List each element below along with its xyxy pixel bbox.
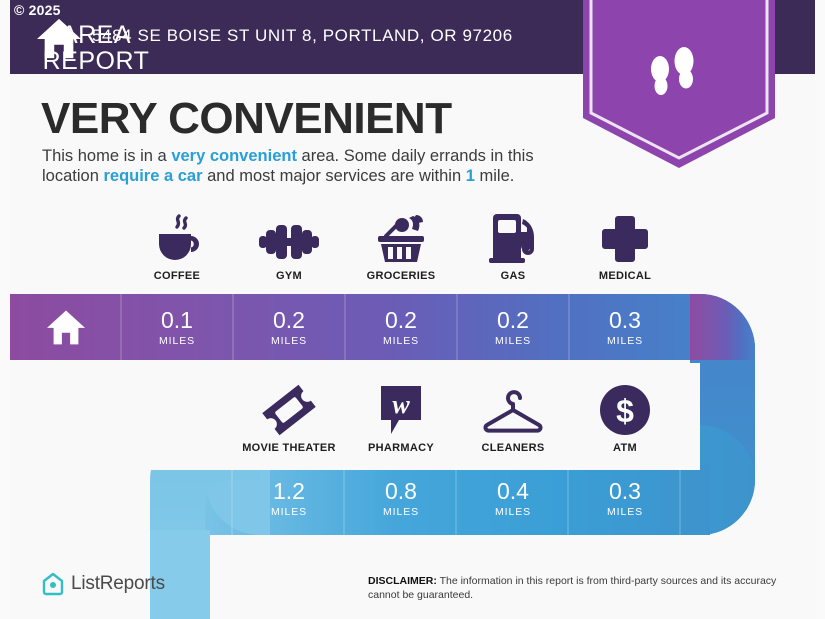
amenity-groceries: GROCERIES — [345, 212, 457, 282]
listreports-name: ListReports — [71, 573, 165, 595]
distance-value: 0.3 — [569, 309, 681, 332]
listreports-house-icon — [42, 572, 64, 596]
amenity-movie-theater: MOVIE THEATER — [233, 384, 345, 454]
amenity-label: CLEANERS — [457, 442, 569, 454]
amenity-row-2: MOVIE THEATER w PHARMACY CLEANERS — [0, 384, 825, 464]
distance-movie-theater: 1.2 MILES — [233, 480, 345, 518]
distance-unit: MILES — [233, 506, 345, 518]
distance-medical: 0.3 MILES — [569, 309, 681, 347]
amenity-medical: MEDICAL — [569, 212, 681, 282]
home-marker-icon — [46, 308, 86, 346]
distance-value: 0.8 — [345, 480, 457, 503]
page-title: VERY CONVENIENT — [41, 94, 452, 144]
listreports-logo: ListReports — [42, 572, 165, 596]
amenity-row-1: COFFEE GYM — [0, 212, 825, 292]
amenity-label: GYM — [233, 270, 345, 282]
amenity-cleaners: CLEANERS — [457, 384, 569, 454]
distance-unit: MILES — [457, 335, 569, 347]
distance-unit: MILES — [569, 335, 681, 347]
amenity-label: GAS — [457, 270, 569, 282]
area-report-page: © 2025 5484 SE BOISE ST UNIT 8, PORTLAND… — [0, 0, 825, 619]
movie-ticket-icon — [233, 384, 345, 436]
medical-cross-icon — [569, 212, 681, 264]
svg-text:w: w — [392, 390, 410, 419]
amenity-label: GROCERIES — [345, 270, 457, 282]
distance-coffee: 0.1 MILES — [121, 309, 233, 347]
subtitle-part-3: and most major services are within — [203, 167, 466, 185]
distance-pharmacy: 0.8 MILES — [345, 480, 457, 518]
page-subtitle: This home is in a very convenient area. … — [42, 146, 587, 187]
dumbbell-icon — [233, 212, 345, 264]
amenity-pharmacy: w PHARMACY — [345, 384, 457, 454]
distance-unit: MILES — [121, 335, 233, 347]
svg-text:$: $ — [616, 393, 634, 429]
area-report-badge — [583, 0, 775, 168]
distance-gas: 0.2 MILES — [457, 309, 569, 347]
distance-unit: MILES — [345, 335, 457, 347]
distance-cleaners: 0.4 MILES — [457, 480, 569, 518]
disclaimer-label: DISCLAIMER: — [368, 575, 437, 587]
amenity-label: PHARMACY — [345, 442, 457, 454]
distance-atm: 0.3 MILES — [569, 480, 681, 518]
amenity-label: COFFEE — [121, 270, 233, 282]
distance-unit: MILES — [457, 506, 569, 518]
amenity-label: MOVIE THEATER — [233, 442, 345, 454]
distance-unit: MILES — [345, 506, 457, 518]
dollar-circle-icon: $ — [569, 384, 681, 436]
clothes-hanger-icon — [457, 384, 569, 436]
distance-value: 0.3 — [569, 480, 681, 503]
amenity-atm: $ ATM — [569, 384, 681, 454]
gas-pump-icon — [457, 212, 569, 264]
amenity-label: ATM — [569, 442, 681, 454]
amenity-gym: GYM — [233, 212, 345, 282]
subtitle-highlight-1: very convenient — [171, 147, 297, 165]
subtitle-part-1: This home is in a — [42, 147, 171, 165]
distance-value: 0.2 — [345, 309, 457, 332]
copyright-label: © 2025 — [14, 2, 61, 18]
subtitle-highlight-3: 1 — [466, 167, 475, 185]
grocery-basket-icon — [345, 212, 457, 264]
subtitle-highlight-2: require a car — [103, 167, 202, 185]
distance-groceries: 0.2 MILES — [345, 309, 457, 347]
distance-unit: MILES — [233, 335, 345, 347]
distance-value: 0.2 — [457, 309, 569, 332]
disclaimer: DISCLAIMER: The information in this repo… — [368, 574, 788, 602]
amenity-gas: GAS — [457, 212, 569, 282]
walgreens-w-icon: w — [345, 384, 457, 436]
distance-value: 1.2 — [233, 480, 345, 503]
coffee-cup-icon — [121, 212, 233, 264]
amenity-coffee: COFFEE — [121, 212, 233, 282]
home-icon — [36, 16, 82, 60]
distance-unit: MILES — [569, 506, 681, 518]
distance-value: 0.2 — [233, 309, 345, 332]
distance-gym: 0.2 MILES — [233, 309, 345, 347]
distance-value: 0.4 — [457, 480, 569, 503]
amenity-label: MEDICAL — [569, 270, 681, 282]
property-address: 5484 SE BOISE ST UNIT 8, PORTLAND, OR 97… — [92, 26, 513, 46]
subtitle-part-4: mile. — [475, 167, 514, 185]
distance-value: 0.1 — [121, 309, 233, 332]
